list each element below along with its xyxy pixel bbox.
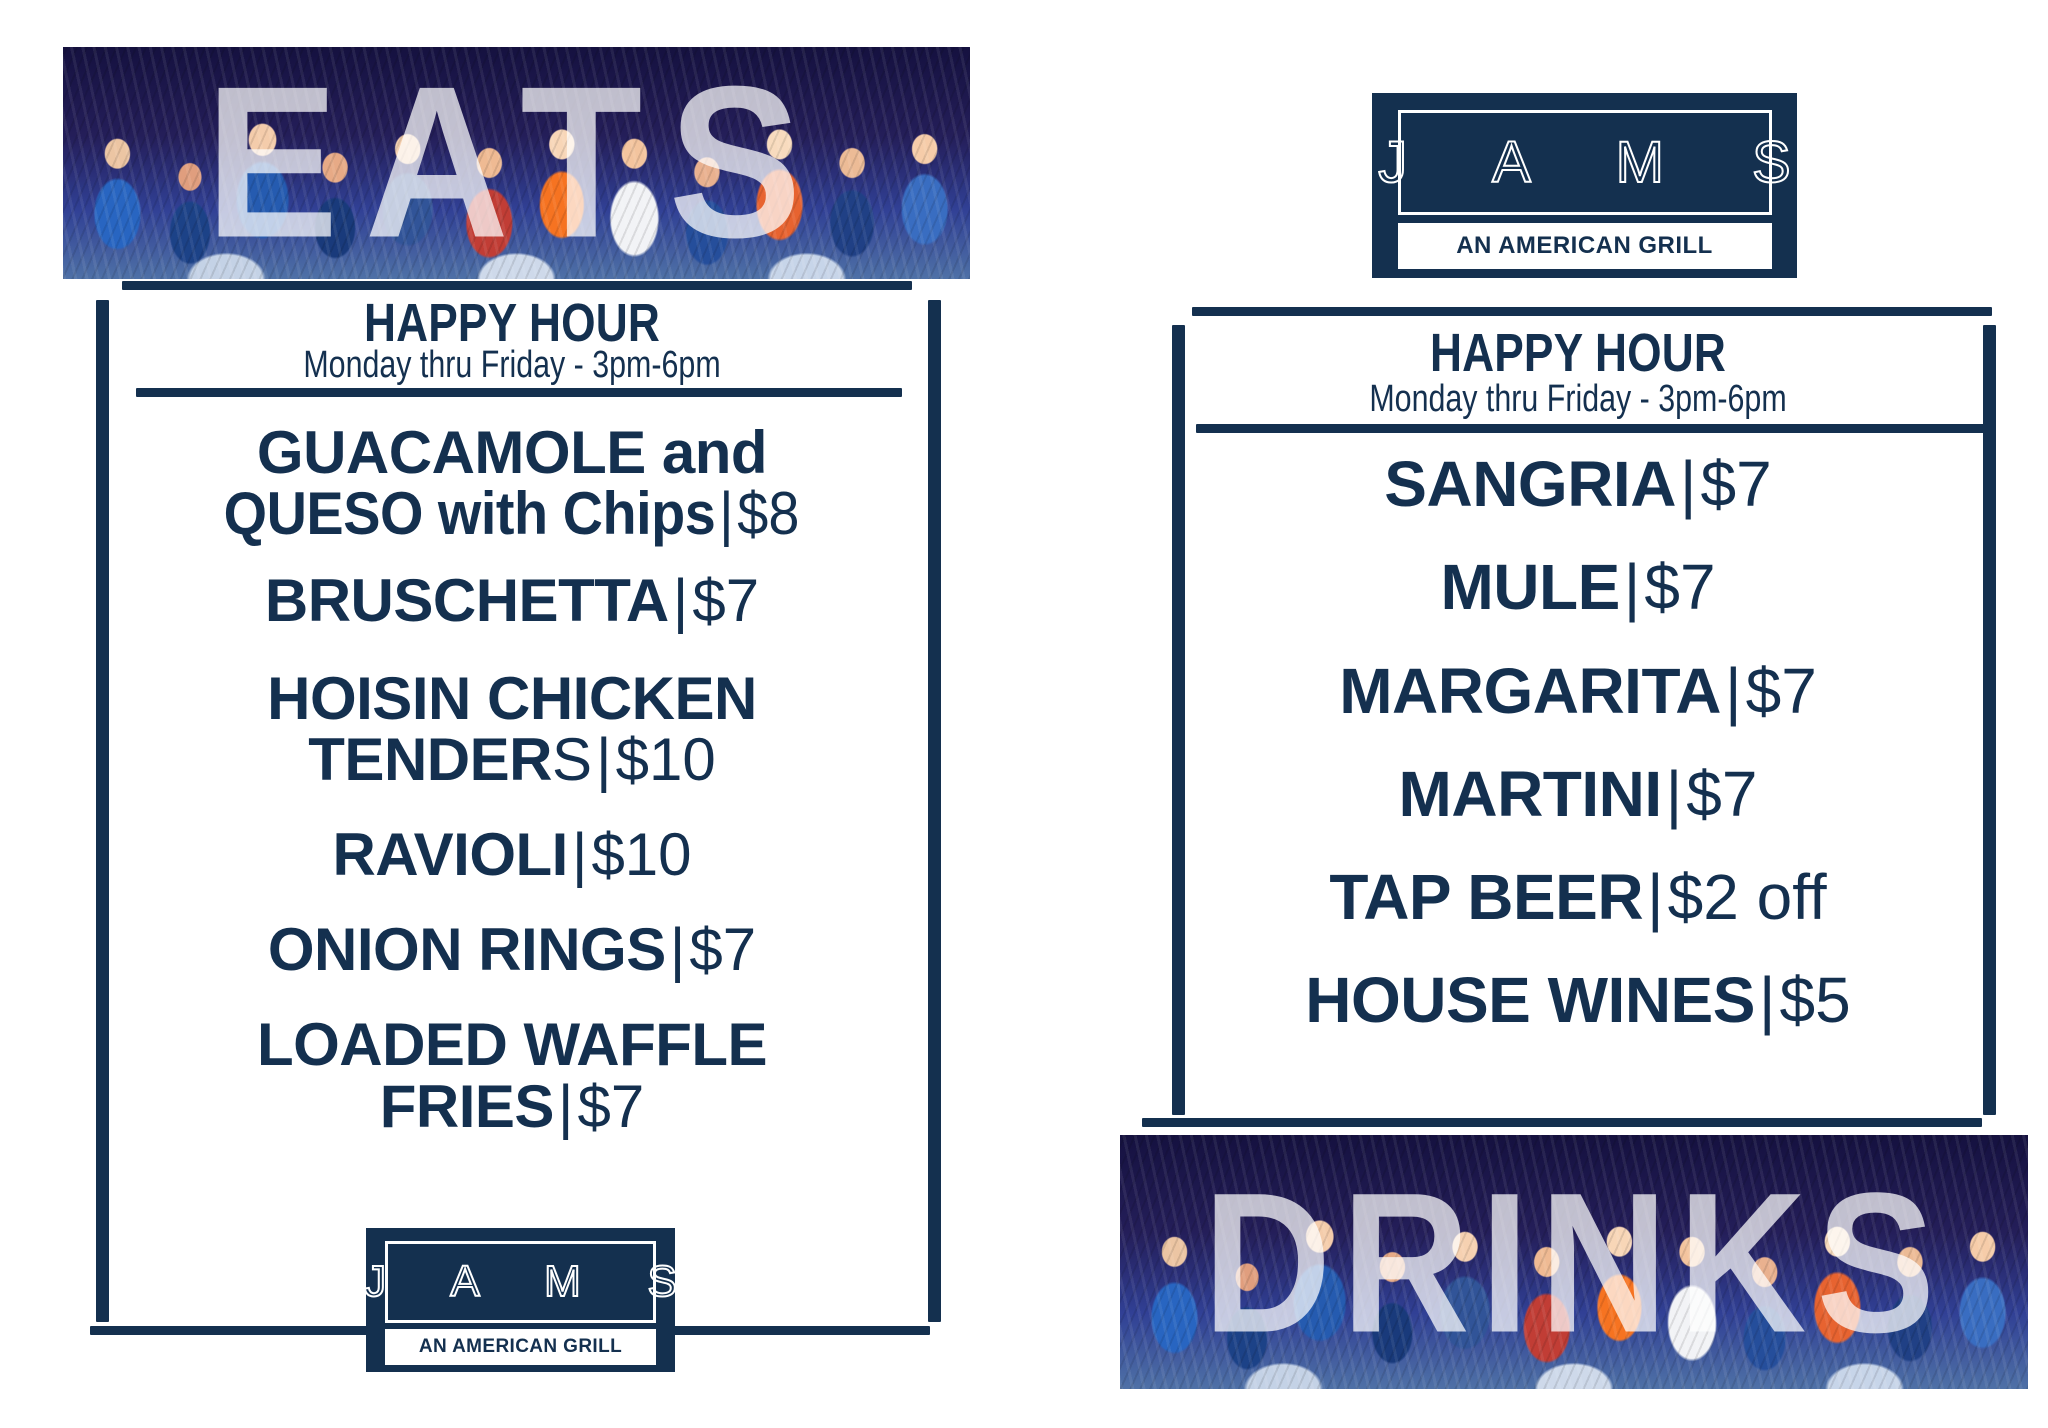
jams-logo-top: J A M S AN AMERICAN GRILL [1372, 93, 1797, 278]
item-name: MULE [1440, 551, 1619, 623]
menu-item: RAVIOLI|$10 [96, 824, 928, 885]
item-separator: | [716, 480, 738, 547]
item-price: $7 [689, 916, 756, 983]
jams-logo-letters-box: J A M S [385, 1241, 657, 1323]
item-name: HOISIN CHICKEN [267, 665, 757, 732]
item-price: $10 [591, 821, 691, 888]
item-name: RAVIOLI [332, 821, 567, 888]
drinks-frame-bottom-rule [1142, 1118, 1982, 1127]
item-separator: | [1721, 655, 1746, 727]
item-price: $7 [1644, 551, 1715, 623]
menu-item: ONION RINGS|$7 [96, 919, 928, 980]
item-name: BRUSCHETTA [265, 567, 669, 634]
eats-banner: EATS [63, 47, 970, 279]
item-name: MARTINI [1399, 758, 1662, 830]
eats-banner-word: EATS [63, 47, 970, 279]
item-price: $8 [738, 480, 800, 547]
item-name: TAP BEER [1329, 861, 1643, 933]
eats-frame-right-bar [928, 300, 941, 1322]
jams-logo-letters-box: J A M S [1398, 110, 1772, 215]
item-price: $5 [1780, 964, 1851, 1036]
item-price: $7 [1746, 655, 1817, 727]
jams-tagline: AN AMERICAN GRILL [419, 1336, 622, 1358]
item-price: $10 [616, 726, 716, 793]
item-name-line2: FRIES [380, 1073, 554, 1140]
drinks-item-list: SANGRIA|$7 MULE|$7 MARGARITA|$7 MARTINI|… [1172, 452, 1984, 1060]
menu-item: MARTINI|$7 [1172, 762, 1984, 827]
menu-item: TAP BEER|$2 off [1172, 865, 1984, 930]
menu-item: GUACAMOLE and QUESO with Chips|$8 [96, 422, 928, 544]
item-separator: | [1643, 861, 1668, 933]
item-separator: | [1676, 448, 1701, 520]
drinks-banner: DRINKS [1120, 1135, 2028, 1389]
eats-frame-top-rule [122, 281, 912, 290]
jams-logo-tagline-bar: AN AMERICAN GRILL [1398, 223, 1772, 269]
menu-item: SANGRIA|$7 [1172, 452, 1984, 517]
item-name: LOADED WAFFLE [257, 1011, 767, 1078]
drinks-frame-top-rule [1192, 307, 1992, 316]
item-separator: | [1620, 551, 1645, 623]
menu-item: HOISIN CHICKEN TENDERS|$10 [96, 668, 928, 790]
item-separator: | [568, 821, 592, 888]
jams-wordmark: J A M S [337, 1257, 704, 1307]
drinks-banner-word: DRINKS [1120, 1135, 2028, 1389]
item-separator: | [1755, 964, 1780, 1036]
menu-item: HOUSE WINES|$5 [1172, 968, 1984, 1033]
jams-tagline: AN AMERICAN GRILL [1456, 232, 1713, 260]
item-price: $7 [692, 567, 759, 634]
item-name-tail: S [552, 726, 592, 793]
item-name: SANGRIA [1384, 448, 1676, 520]
item-price: $2 off [1668, 861, 1827, 933]
item-name: MARGARITA [1339, 655, 1721, 727]
item-name-line2: TENDER [308, 726, 552, 793]
eats-frame-header-rule [136, 388, 902, 397]
item-price: $7 [1686, 758, 1757, 830]
jams-wordmark: J A M S [1342, 129, 1826, 196]
item-separator: | [1662, 758, 1687, 830]
drinks-frame-right-bar [1983, 325, 1996, 1115]
item-name: GUACAMOLE and [257, 419, 767, 486]
item-price: $7 [1701, 448, 1772, 520]
eats-item-list: GUACAMOLE and QUESO with Chips|$8 BRUSCH… [96, 422, 928, 1163]
menu-item: LOADED WAFFLE FRIES|$7 [96, 1014, 928, 1136]
item-name: HOUSE WINES [1305, 964, 1755, 1036]
menu-item: MARGARITA|$7 [1172, 659, 1984, 724]
item-separator: | [554, 1073, 578, 1140]
item-price: $7 [578, 1073, 645, 1140]
drinks-happy-hour-subtitle: Monday thru Friday - 3pm-6pm [1253, 380, 1903, 418]
jams-logo-tagline-bar: AN AMERICAN GRILL [385, 1329, 657, 1365]
item-separator: | [666, 916, 690, 983]
jams-logo-bottom: J A M S AN AMERICAN GRILL [366, 1228, 675, 1372]
item-name-line2: QUESO with Chips [224, 480, 716, 547]
menu-item: MULE|$7 [1172, 555, 1984, 620]
eats-happy-hour-subtitle: Monday thru Friday - 3pm-6pm [179, 346, 845, 384]
drinks-happy-hour-title: HAPPY HOUR [1245, 326, 1911, 380]
item-separator: | [592, 726, 616, 793]
item-name: ONION RINGS [268, 916, 666, 983]
drinks-frame-header-rule [1196, 424, 1986, 433]
item-separator: | [669, 567, 693, 634]
menu-item: BRUSCHETTA|$7 [96, 570, 928, 631]
eats-happy-hour-title: HAPPY HOUR [171, 296, 853, 350]
